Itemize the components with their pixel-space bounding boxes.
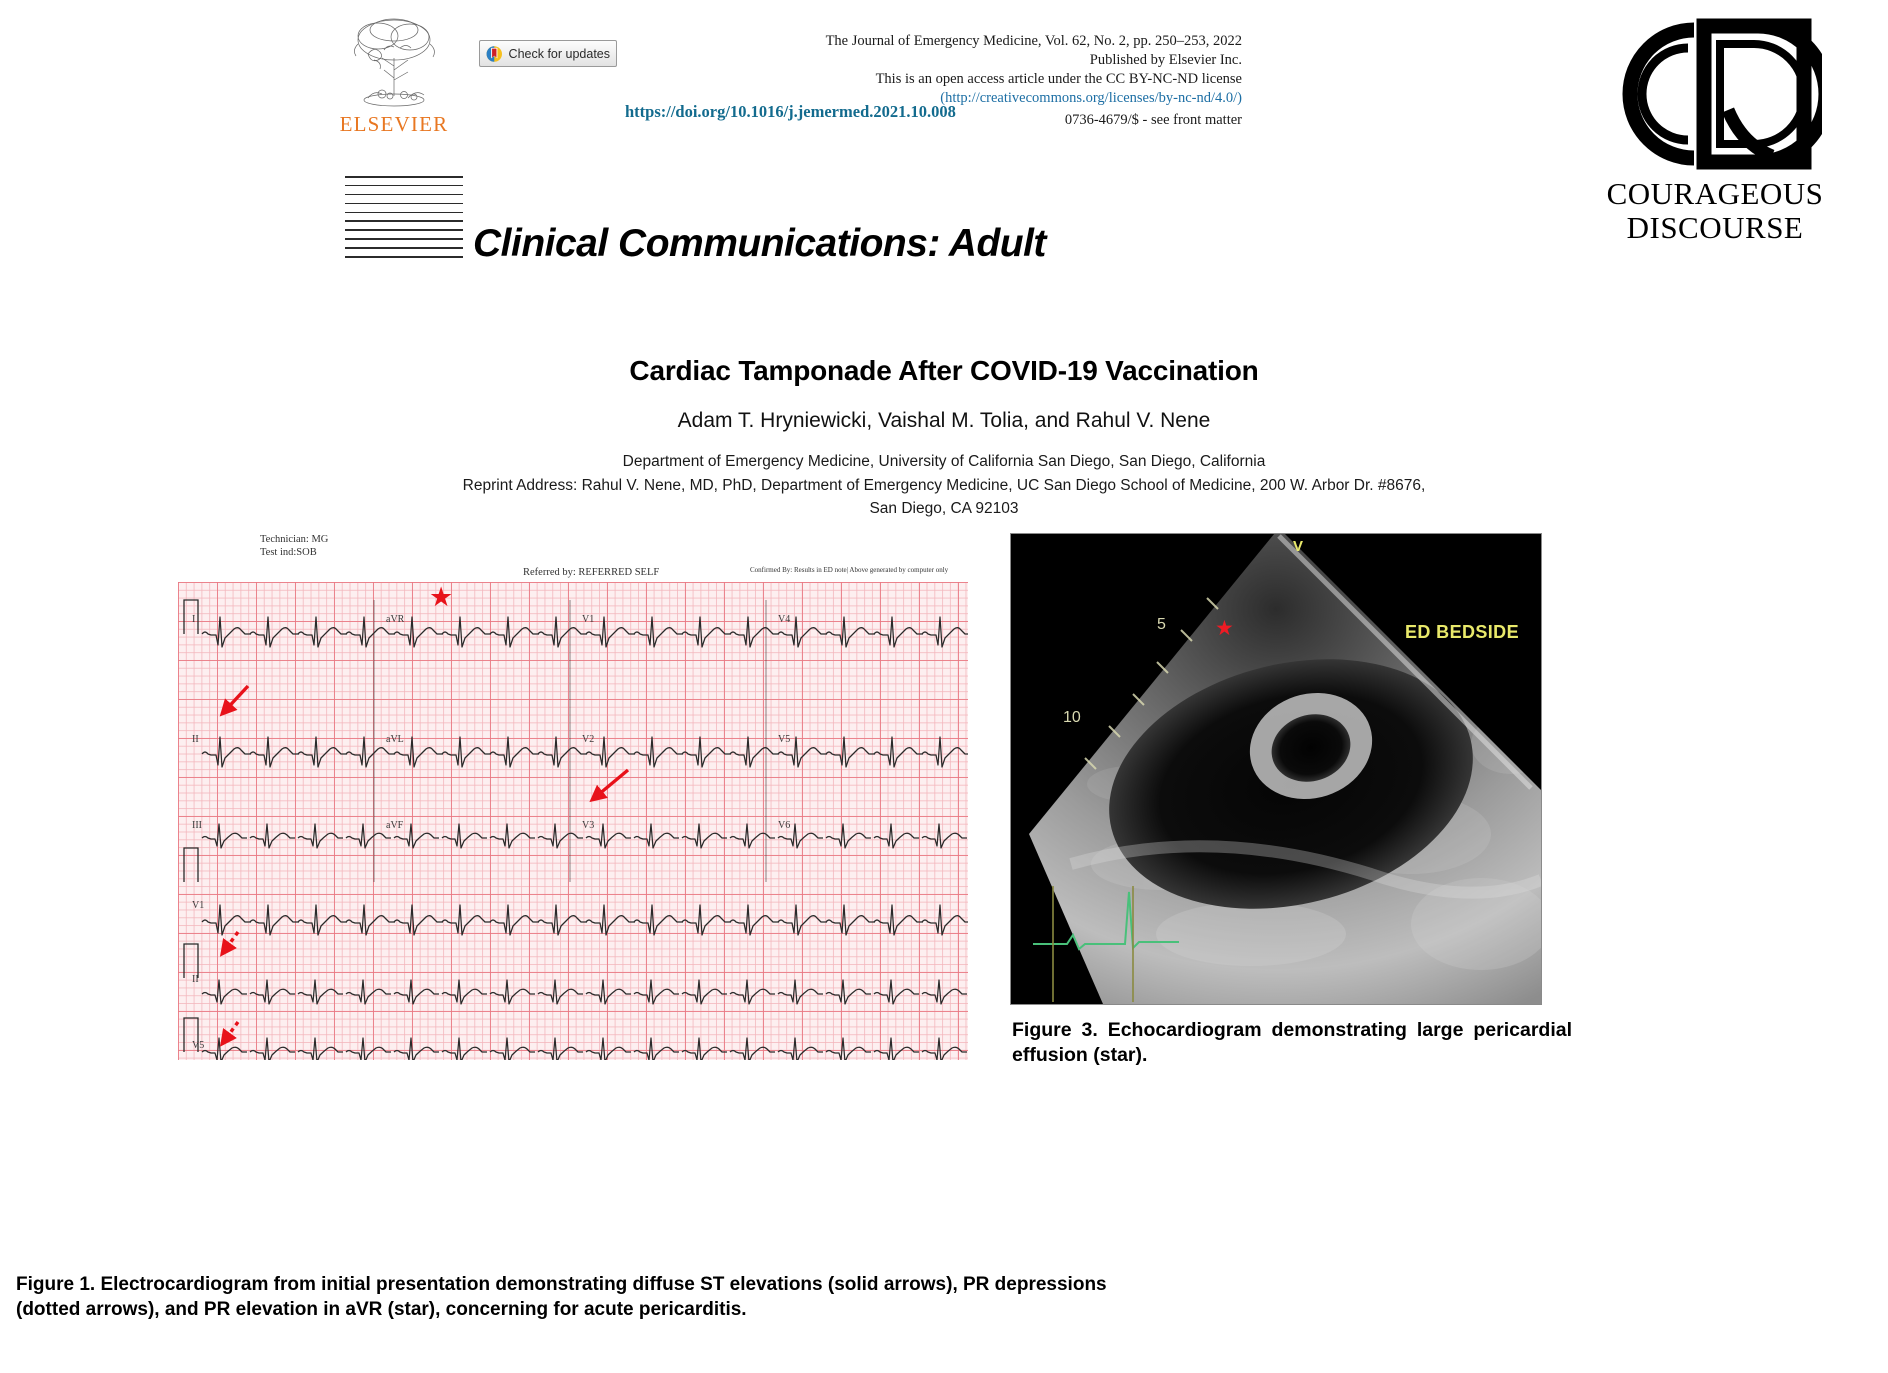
echo-depth-label-10: 10 [1063,709,1081,727]
ecg-technician-label: Technician: MGTest ind:SOB [260,533,328,559]
lead-label-V4: V4 [778,614,790,625]
rhythm-label-II: II [192,974,199,985]
pr-elevation-star-icon: ★ [429,584,453,611]
elsevier-logo: ELSEVIER [338,14,450,136]
lead-label-V2: V2 [582,734,594,745]
elsevier-tree-icon [338,14,450,110]
section-heading: Clinical Communications: Adult [473,222,1046,266]
brand-line-2: DISCOURSE [1590,212,1840,243]
crossmark-check-for-updates-button[interactable]: Check for updates [479,40,617,67]
lead-label-II: II [192,734,199,745]
crossmark-bookmark-icon [486,45,503,63]
journal-citation: The Journal of Emergency Medicine, Vol. … [822,32,1242,51]
lead-label-aVF: aVF [386,820,403,831]
pericardial-effusion-star-icon: ★ [1215,618,1234,639]
affiliation-line-1: Department of Emergency Medicine, Univer… [0,450,1888,474]
elsevier-wordmark: ELSEVIER [338,112,450,137]
affiliation-line-3: San Diego, CA 92103 [0,497,1888,521]
figure-3-echocardiogram: V ED BEDSIDE 5 10 ★ [1010,533,1542,1005]
lead-label-V6: V6 [778,820,790,831]
figure-1-ecg: Technician: MGTest ind:SOB Referred by: … [178,530,968,1060]
figure-1-caption: Figure 1. Electrocardiogram from initial… [16,1272,1176,1323]
pr-depression-arrow-1 [222,932,238,954]
pr-depression-arrow-2 [222,1022,238,1044]
echo-ultrasound-image [1011,534,1541,1004]
ecg-traces [178,582,968,1060]
figure-3-caption: Figure 3. Echocardiogram demonstrating l… [1012,1018,1572,1068]
rhythm-label-V5: V5 [192,1040,204,1051]
doi-link[interactable]: https://doi.org/10.1016/j.jemermed.2021.… [625,102,956,122]
cd-monogram-icon [1608,14,1822,174]
ecg-confirmed-by-label: Confirmed By: Results in ED note| Above … [750,566,948,575]
lead-label-aVR: aVR [386,614,404,625]
brand-line-1: COURAGEOUS [1590,178,1840,209]
section-banner-rules [345,176,463,262]
lead-label-III: III [192,820,202,831]
crossmark-label: Check for updates [509,47,610,61]
lead-label-V1: V1 [582,614,594,625]
article-affiliation: Department of Emergency Medicine, Univer… [0,450,1888,521]
echo-orientation-marker-label: V [1293,538,1303,555]
rhythm-label-V1: V1 [192,900,204,911]
ecg-referred-by-label: Referred by: REFERRED SELF [523,566,659,579]
lead-label-aVL: aVL [386,734,404,745]
st-elevation-arrow-1 [222,686,248,714]
ecg-grid-paper: I aVR V1 V4 II aVL V2 V5 III aVF V3 V6 V… [178,582,968,1060]
article-title: Cardiac Tamponade After COVID-19 Vaccina… [0,355,1888,387]
journal-open-access-note: This is an open access article under the… [822,70,1242,89]
st-elevation-arrow-2 [592,770,628,800]
lead-label-V5: V5 [778,734,790,745]
affiliation-line-2: Reprint Address: Rahul V. Nene, MD, PhD,… [0,474,1888,498]
echo-depth-label-5: 5 [1157,616,1166,634]
lead-label-V3: V3 [582,820,594,831]
journal-published-by: Published by Elsevier Inc. [822,51,1242,70]
echo-ed-bedside-label: ED BEDSIDE [1405,622,1519,643]
courageous-discourse-logo: COURAGEOUS DISCOURSE [1590,14,1840,243]
article-authors: Adam T. Hryniewicki, Vaishal M. Tolia, a… [0,409,1888,433]
lead-label-I: I [192,614,195,625]
